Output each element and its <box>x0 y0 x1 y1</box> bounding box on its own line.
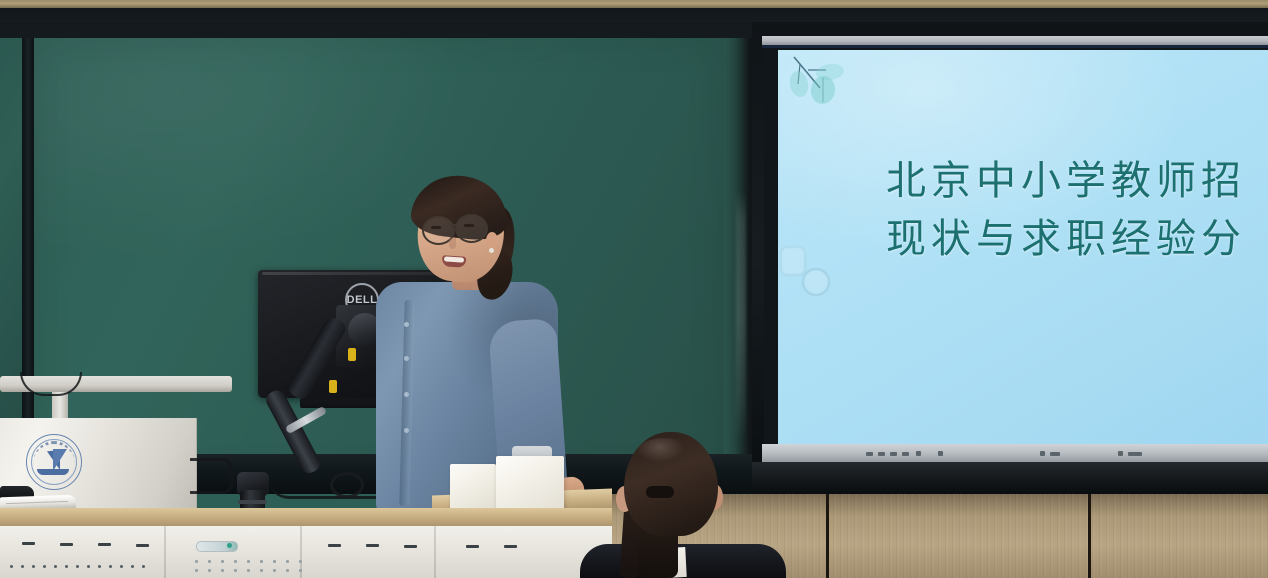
smartboard-brand-label <box>1128 452 1142 456</box>
classroom-scene: 北京中小学教师招 现状与求职经验分 DELL <box>0 0 1268 578</box>
presenter-button-1 <box>404 322 409 327</box>
presenter-ear <box>486 232 498 249</box>
smartboard-input-icon[interactable] <box>1040 451 1045 456</box>
cabinet-seam-1 <box>826 494 829 578</box>
smartboard-top-strip <box>762 36 1268 45</box>
desk-surface <box>0 508 612 528</box>
slide-title: 北京中小学教师招 现状与求职经验分 <box>886 152 1268 268</box>
student-hair-tie <box>646 486 674 498</box>
student-hair-highlight <box>636 438 694 468</box>
emblem-sail-right <box>53 449 71 471</box>
bubble-decoration-square <box>780 246 806 276</box>
smartboard-brand-icon <box>1118 451 1123 456</box>
vent-slot-4 <box>136 544 149 547</box>
clamp-ring-1 <box>238 500 267 504</box>
smartboard-icon-2[interactable] <box>878 452 885 456</box>
smartboard-screen[interactable]: 北京中小学教师招 现状与求职经验分 <box>778 50 1268 444</box>
bubble-decoration-circle <box>802 268 830 296</box>
power-led-icon <box>227 543 232 548</box>
vent-dot-grid <box>6 562 146 572</box>
chalkboard-edge-reflection <box>736 190 746 440</box>
vent-slot-5 <box>328 544 341 547</box>
vent-slot-8 <box>466 545 479 548</box>
smartboard-input-label <box>1050 452 1060 456</box>
chalkboard-side-panel[interactable] <box>0 38 22 478</box>
smartboard-icon-4[interactable] <box>902 452 909 456</box>
speaker-grille <box>190 557 302 573</box>
smartboard-lower-housing <box>752 462 1268 494</box>
chalkboard-frame-top <box>0 24 760 38</box>
vent-slot-7 <box>404 545 417 548</box>
glasses-bridge <box>450 224 457 226</box>
smartboard-power-icon[interactable] <box>916 451 921 456</box>
smartboard-icon-3[interactable] <box>890 452 897 456</box>
presenter-earring <box>489 248 494 253</box>
slide-title-line-2: 现状与求职经验分 <box>886 210 1268 268</box>
vent-slot-3 <box>98 543 111 546</box>
smartboard-home-icon[interactable] <box>938 451 943 456</box>
presenter-button-4 <box>404 428 409 433</box>
presenter-eye-left <box>431 226 441 229</box>
presenter-eye-right <box>464 224 474 227</box>
smartboard-control-bar[interactable] <box>762 444 1268 462</box>
presenter-button-2 <box>404 356 409 361</box>
vent-slot-2 <box>60 543 73 546</box>
cable-coil <box>330 472 364 498</box>
chalkboard-panel-divider <box>22 38 34 478</box>
vent-slot-9 <box>504 545 517 548</box>
presenter-button-3 <box>404 392 409 397</box>
presenter-nose <box>449 238 456 249</box>
leaf-branch-icon <box>790 54 860 112</box>
cabinet-seam-2 <box>1088 494 1091 578</box>
smartboard-icon-1[interactable] <box>866 452 873 456</box>
monitor-arm-accent-lower <box>329 380 337 393</box>
slide-title-line-1: 北京中小学教师招 <box>886 158 1246 203</box>
wall-bracket <box>190 458 233 494</box>
monitor-arm-accent-upper <box>348 348 356 361</box>
vent-slot-6 <box>366 544 379 547</box>
emblem-hull <box>37 469 69 475</box>
desk-panel-seam-1 <box>164 526 166 578</box>
desk-panel-seam-3 <box>434 526 436 578</box>
glasses-right-lens-icon <box>455 214 488 243</box>
vent-slot-1 <box>22 542 35 545</box>
school-emblem-icon <box>26 434 82 490</box>
